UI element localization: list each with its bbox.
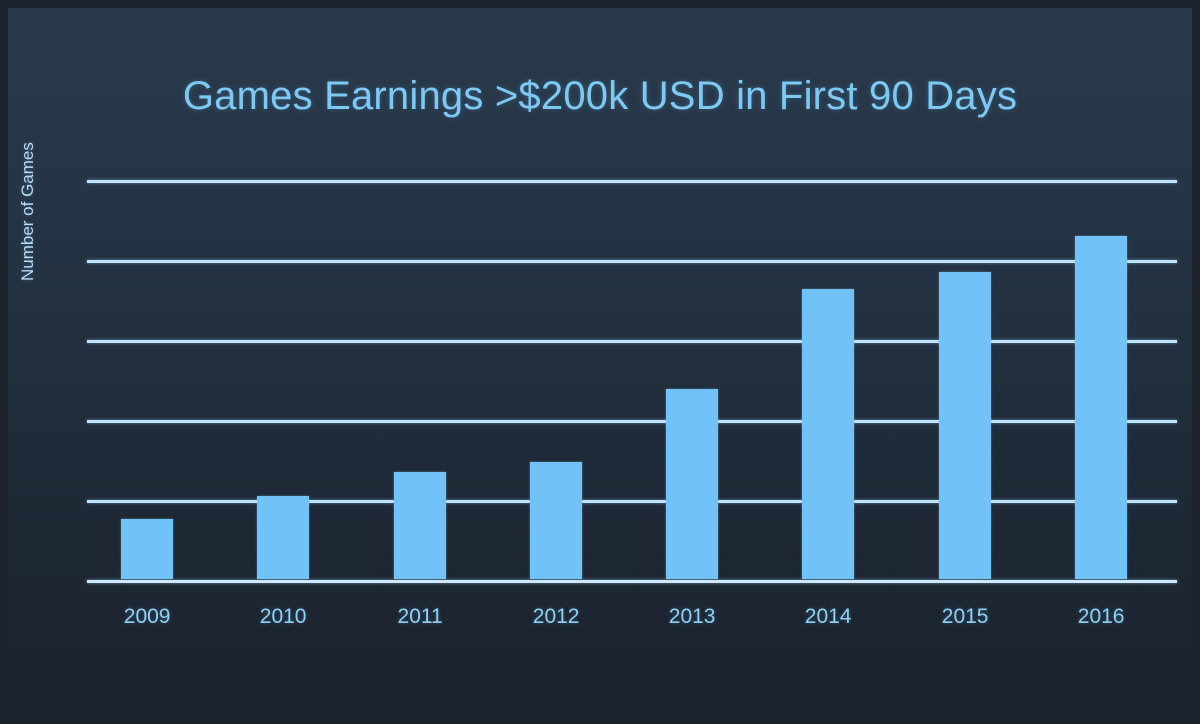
- x-tick-2015: 2015: [897, 605, 1033, 629]
- bar-2012[interactable]: [530, 462, 582, 579]
- x-tick-2010: 2010: [215, 605, 351, 629]
- y-axis-label: Number of Games: [18, 61, 44, 281]
- x-tick-2011: 2011: [352, 605, 488, 629]
- bar-2014[interactable]: [802, 289, 854, 579]
- bar-2013[interactable]: [666, 389, 718, 579]
- bar-2016[interactable]: [1075, 236, 1127, 579]
- bar-2009[interactable]: [121, 519, 173, 579]
- x-tick-2016: 2016: [1033, 605, 1169, 629]
- chart-root: Games Earnings >$200k USD in First 90 Da…: [0, 0, 1200, 724]
- x-tick-2009: 2009: [79, 605, 215, 629]
- x-tick-2014: 2014: [760, 605, 896, 629]
- bar-2015[interactable]: [939, 272, 991, 579]
- x-tick-2013: 2013: [624, 605, 760, 629]
- x-axis-tick-labels: 20092010201120122013201420152016: [87, 605, 1177, 645]
- bar-series: [87, 180, 1177, 580]
- x-tick-2012: 2012: [488, 605, 624, 629]
- x-axis-baseline: [87, 580, 1177, 583]
- bar-2010[interactable]: [257, 496, 309, 579]
- bar-2011[interactable]: [394, 472, 446, 579]
- chart-title: Games Earnings >$200k USD in First 90 Da…: [0, 74, 1200, 119]
